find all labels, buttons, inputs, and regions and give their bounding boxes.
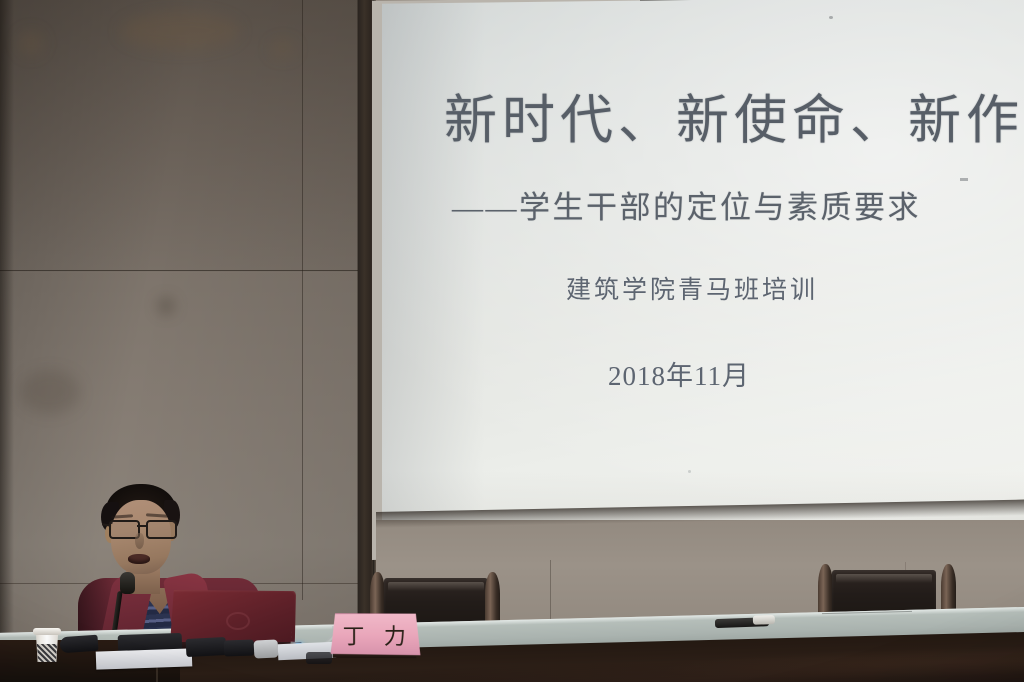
wall-stain [18,30,44,56]
wall-left-edge-shadow [0,0,14,682]
chair-highlight [836,574,932,583]
desk-item [306,652,332,664]
glasses-lens-right [146,520,177,539]
wall-seam-horizontal [0,270,378,271]
cup-lid [33,628,61,635]
wall-stain [20,370,80,414]
mouth [128,554,150,564]
wall-stain [270,40,296,58]
slide-subtitle: ——学生干部的定位与素质要求 [452,182,1024,227]
cup-sleeve [36,644,58,662]
laptop-logo-icon [226,612,250,630]
slide-title: 新时代、新使命、新作为 [444,92,1024,151]
placard-name-text: 丁 力 [331,619,419,651]
remote-tip [753,615,775,625]
coffee-cup [34,628,62,662]
desk-item-light [254,639,279,658]
nose [135,533,144,549]
lecture-photo-scene: 新时代、新使命、新作为 ——学生干部的定位与素质要求 建筑学院青马班培训 201… [0,0,1024,682]
wall-stain [158,298,174,314]
remote-control [715,615,777,630]
slide-date: 2018年11月 [382,354,976,393]
name-placard: 丁 力 [331,613,419,658]
papers-on-desk [96,648,193,669]
wall-stain [120,12,240,50]
laptop-lid [170,590,296,646]
desk-item [59,635,98,654]
desk-item [186,637,227,657]
microphone-head [120,572,135,594]
slide-organization: 建筑学院青马班培训 [382,270,1002,306]
slide-content: 新时代、新使命、新作为 ——学生干部的定位与素质要求 建筑学院青马班培训 201… [382,0,1024,548]
chair-highlight [388,582,484,591]
desk-item [224,639,255,656]
